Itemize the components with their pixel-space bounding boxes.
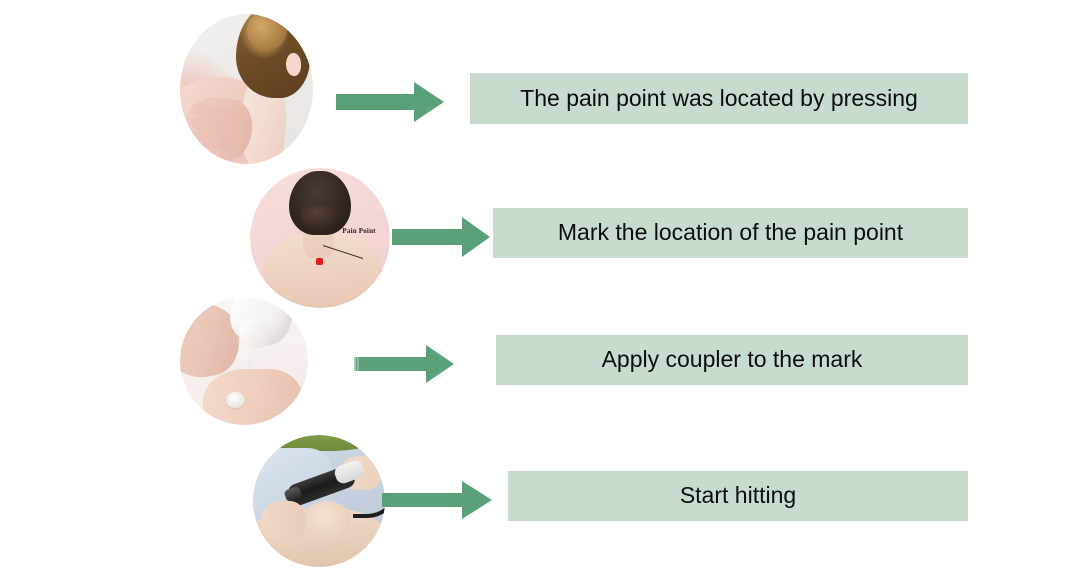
step-row-1: The pain point was located by pressing bbox=[0, 0, 1084, 165]
marked-pain-point-photo: Pain Point bbox=[250, 168, 390, 308]
step-row-2: Pain Point Mark the location of the pain… bbox=[0, 160, 1084, 300]
step-label-box-1: The pain point was located by pressing bbox=[470, 73, 968, 124]
pressing-neck-photo-inner bbox=[180, 14, 313, 164]
step-label-box-2: Mark the location of the pain point bbox=[493, 208, 968, 258]
photo1-ear bbox=[286, 53, 301, 76]
photo4-therapist-hand-lower bbox=[261, 501, 306, 541]
shockwave-treatment-photo-inner bbox=[253, 435, 385, 567]
step-arrow-2 bbox=[392, 215, 492, 259]
step-arrow-1 bbox=[336, 80, 446, 124]
shockwave-treatment-photo bbox=[253, 435, 385, 567]
step-row-3: Apply coupler to the mark bbox=[0, 292, 1084, 437]
step-label-text-4: Start hitting bbox=[680, 483, 796, 508]
applying-coupler-photo-inner bbox=[180, 297, 308, 425]
pain-point-label: Pain Point bbox=[342, 227, 375, 235]
photo4-knee bbox=[303, 501, 351, 541]
photo3-receiving-hand bbox=[203, 369, 303, 425]
marked-pain-point-photo-inner: Pain Point bbox=[250, 168, 390, 308]
step-label-text-1: The pain point was located by pressing bbox=[520, 86, 918, 111]
flow-diagram: The pain point was located by pressing P… bbox=[0, 0, 1084, 586]
photo3-gel-drip bbox=[247, 346, 253, 369]
step-label-box-4: Start hitting bbox=[508, 471, 968, 521]
step-arrow-3 bbox=[354, 342, 456, 386]
pain-point-marker bbox=[316, 258, 323, 265]
step-label-box-3: Apply coupler to the mark bbox=[496, 335, 968, 385]
step-label-text-3: Apply coupler to the mark bbox=[602, 347, 863, 372]
step-label-text-2: Mark the location of the pain point bbox=[558, 220, 903, 245]
step-arrow-4 bbox=[382, 478, 494, 522]
applying-coupler-photo bbox=[180, 297, 308, 425]
photo2-hair-bun bbox=[300, 202, 339, 230]
step-row-4: Start hitting bbox=[0, 430, 1084, 580]
pressing-neck-photo bbox=[180, 14, 313, 164]
